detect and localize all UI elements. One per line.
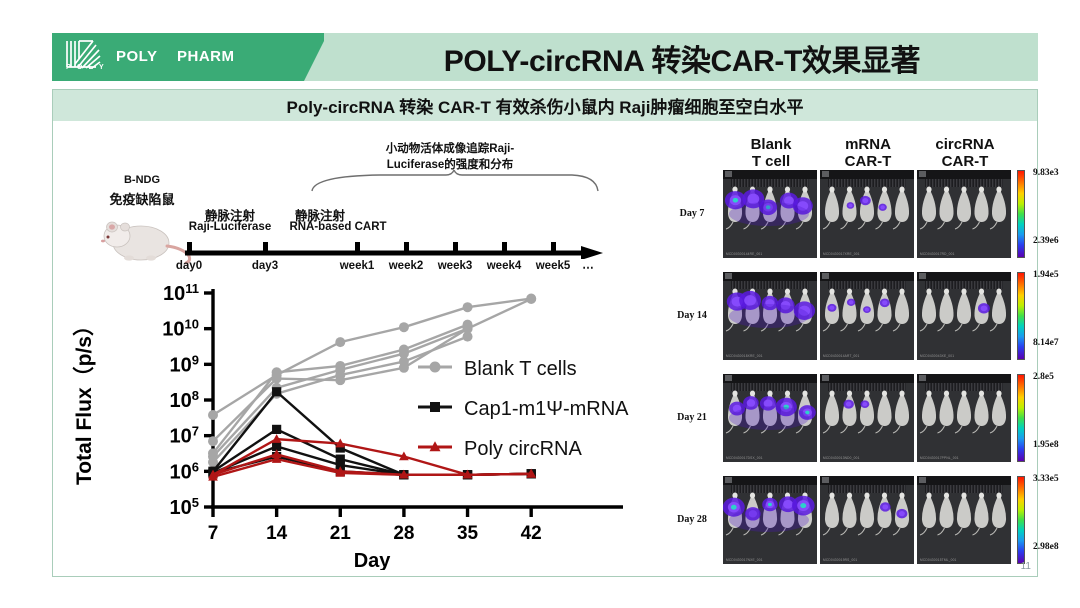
intensity-colorbar (1017, 272, 1025, 360)
panel-file-stamp: MCD0430015TML_001 (920, 558, 957, 562)
bioluminescence-panel[interactable]: MCD00300144RE_001 (723, 170, 817, 258)
intensity-colorbar (1017, 170, 1025, 258)
col-head-line1: mRNA (845, 136, 891, 153)
imaging-day-label: Day 28 (665, 514, 719, 525)
panel-file-stamp: MCD0430018XRE_001 (726, 354, 763, 358)
bioluminescence-panel[interactable]: MCD0430017DSX_001 (723, 374, 817, 462)
bioluminescence-panel[interactable]: MCD0430019RS_001 (820, 476, 914, 564)
colorbar-max-value: 9.83e3 (1033, 168, 1059, 178)
svg-text:Cap1-m1Ψ-mRNA: Cap1-m1Ψ-mRNA (464, 398, 629, 420)
mouse-bioluminescence-image (723, 272, 817, 360)
timeline-tick-week1: week1 (340, 260, 375, 272)
imaging-day-label: Day 21 (665, 412, 719, 423)
timeline-tick-ellipsis: ⋯ (582, 260, 594, 274)
svg-text:Poly circRNA: Poly circRNA (464, 438, 582, 460)
svg-text:106: 106 (170, 459, 199, 484)
timeline-tick-week5: week5 (536, 260, 571, 272)
column-header-circrna-cart: circRNA CAR-T (917, 136, 1013, 170)
poly-logo-icon (62, 37, 106, 77)
header-band: P O L Y POLY PHARM POLY-circRNA 转染CAR-T效… (52, 33, 1038, 81)
timeline-brace-icon (310, 170, 600, 192)
panel-file-stamp: MCD0430014ART_001 (823, 354, 859, 358)
brand-pharm-label: PHARM (177, 48, 235, 65)
intensity-colorbar (1017, 374, 1025, 462)
mouse-bioluminescence-image (917, 374, 1011, 462)
slide-root: P O L Y POLY PHARM POLY-circRNA 转染CAR-T效… (0, 0, 1080, 608)
bioluminescence-panel[interactable]: MCD0430015TML_001 (917, 476, 1011, 564)
colorbar-min-value: 2.39e6 (1033, 236, 1059, 246)
imaging-note-line1: 小动物活体成像追踪Raji- (355, 140, 545, 156)
panel-file-stamp: MCD0430019RS_001 (823, 558, 857, 562)
colorbar-max-value: 3.33e5 (1033, 474, 1059, 484)
svg-text:28: 28 (393, 523, 414, 544)
bioluminescence-panel[interactable]: MCD0430017NXE_001 (723, 476, 817, 564)
panel-file-stamp: MCD0430017NXE_001 (726, 558, 763, 562)
panel-file-stamp: MCD0430017RD_001 (920, 252, 955, 256)
panel-file-stamp: MCD0430017PPNL_001 (920, 456, 959, 460)
injection2-label-en: RNA-based CART (278, 221, 398, 233)
mouse-bioluminescence-image (723, 476, 817, 564)
brand-poly-label: POLY (116, 48, 157, 65)
panel-file-stamp: MCD0430043XE_001 (920, 354, 954, 358)
svg-text:Total Flux（p/s）: Total Flux（p/s） (72, 315, 96, 485)
subtitle-bar: Poly-circRNA 转染 CAR-T 有效杀伤小鼠内 Raji肿瘤细胞至空… (53, 90, 1037, 121)
content-frame: Poly-circRNA 转染 CAR-T 有效杀伤小鼠内 Raji肿瘤细胞至空… (52, 89, 1038, 577)
mouse-bioluminescence-image (917, 476, 1011, 564)
svg-text:105: 105 (170, 495, 199, 520)
col-head-line2: T cell (752, 153, 790, 170)
mouse-bioluminescence-image (820, 374, 914, 462)
svg-text:109: 109 (170, 352, 199, 377)
svg-text:42: 42 (521, 523, 542, 544)
bioluminescence-imaging-grid: Blank T cell mRNA CAR-T circRNA CAR-T Da… (665, 132, 1037, 572)
col-head-line2: CAR-T (845, 153, 892, 170)
bioluminescence-panel[interactable]: MCD0430017PPNL_001 (917, 374, 1011, 462)
mouse-bioluminescence-image (723, 374, 817, 462)
page-title: POLY-circRNA 转染CAR-T效果显著 (352, 37, 1012, 79)
total-flux-chart: 1051061071081091010101171421283542DayTot… (63, 275, 663, 570)
mouse-strain-label: B-NDG (87, 174, 197, 186)
colorbar-min-value: 1.95e8 (1033, 440, 1059, 450)
panel-file-stamp: MCD00300144RE_001 (726, 252, 762, 256)
timeline-tick-day0: day0 (176, 260, 202, 272)
timeline-tick-week4: week4 (487, 260, 522, 272)
panel-file-stamp: MCD0430013ND0_001 (823, 456, 860, 460)
col-head-line1: circRNA (935, 136, 994, 153)
bioluminescence-panel[interactable]: MCD0430043XE_001 (917, 272, 1011, 360)
col-head-line1: Blank (751, 136, 792, 153)
colorbar-min-value: 2.98e8 (1033, 542, 1059, 552)
mouse-bioluminescence-image (917, 272, 1011, 360)
timeline-axis (185, 237, 605, 259)
mouse-bioluminescence-image (917, 170, 1011, 258)
intensity-colorbar (1017, 476, 1025, 564)
svg-text:Blank T cells: Blank T cells (464, 358, 577, 380)
column-header-mrna-cart: mRNA CAR-T (820, 136, 916, 170)
bioluminescence-panel[interactable]: MCD0430013ND0_001 (820, 374, 914, 462)
svg-text:35: 35 (457, 523, 479, 544)
bioluminescence-panel[interactable]: MCD0430017XRE_001 (820, 170, 914, 258)
svg-text:21: 21 (330, 523, 352, 544)
column-header-blank-tcell: Blank T cell (723, 136, 819, 170)
experiment-timeline: B-NDG 免疫缺陷鼠 静脉注射 Raji-Luciferase 静脉注射 RN… (65, 132, 665, 272)
colorbar-min-value: 8.14e7 (1033, 338, 1059, 348)
mouse-bioluminescence-image (723, 170, 817, 258)
colorbar-max-value: 1.94e5 (1033, 270, 1059, 280)
bioluminescence-panel[interactable]: MCD0430017RD_001 (917, 170, 1011, 258)
svg-text:7: 7 (208, 523, 219, 544)
bioluminescence-panel[interactable]: MCD0430018XRE_001 (723, 272, 817, 360)
col-head-line2: CAR-T (942, 153, 989, 170)
timeline-tick-week2: week2 (389, 260, 424, 272)
svg-text:14: 14 (266, 523, 288, 544)
panel-file-stamp: MCD0430017XRE_001 (823, 252, 860, 256)
panel-file-stamp: MCD0430017DSX_001 (726, 456, 763, 460)
imaging-day-label: Day 7 (665, 208, 719, 219)
mouse-bioluminescence-image (820, 272, 914, 360)
total-flux-chart-svg: 1051061071081091010101171421283542DayTot… (63, 275, 663, 570)
logo-wordmark: P O L Y (66, 64, 106, 71)
imaging-day-label: Day 14 (665, 310, 719, 321)
timeline-tick-week3: week3 (438, 260, 473, 272)
svg-text:107: 107 (170, 423, 199, 448)
page-number: 11 (1021, 561, 1031, 572)
svg-text:Day: Day (354, 550, 392, 570)
mouse-bioluminescence-image (820, 170, 914, 258)
timeline-tick-day3: day3 (252, 260, 278, 272)
svg-text:1010: 1010 (162, 316, 199, 341)
mouse-bioluminescence-image (820, 476, 914, 564)
colorbar-max-value: 2.8e5 (1033, 372, 1054, 382)
svg-text:108: 108 (170, 388, 199, 413)
bioluminescence-panel[interactable]: MCD0430014ART_001 (820, 272, 914, 360)
svg-text:1011: 1011 (163, 281, 199, 306)
